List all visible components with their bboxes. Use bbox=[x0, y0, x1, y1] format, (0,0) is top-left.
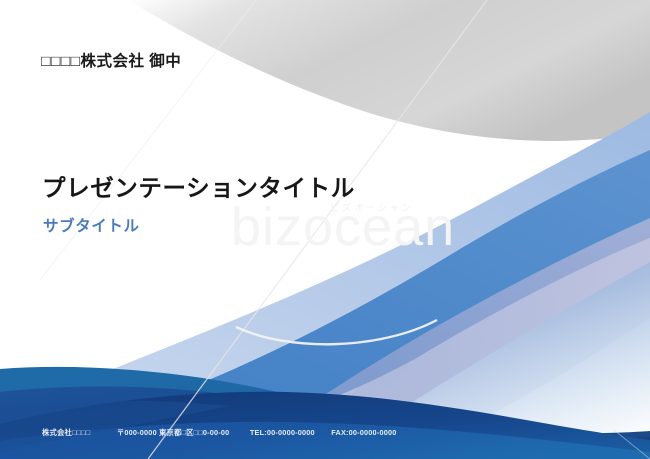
presentation-title: プレゼンテーションタイトル bbox=[42, 169, 355, 203]
slide-text-layer: bizocean ビズオーシャン □□□□株式会社 御中 プレゼンテーションタイ… bbox=[0, 0, 650, 459]
footer-company-name: 株式会社□□□□ bbox=[42, 428, 90, 438]
recipient-company-line: □□□□株式会社 御中 bbox=[41, 49, 181, 71]
bizocean-watermark-wordmark: bizocean bbox=[231, 196, 455, 258]
footer-postal-address: 〒000-0000 東京都□区□□0-00-00 bbox=[117, 428, 230, 438]
presentation-title-slide: bizocean ビズオーシャン □□□□株式会社 御中 プレゼンテーションタイ… bbox=[0, 0, 650, 459]
footer-telephone: TEL:00-0000-0000 bbox=[250, 428, 315, 437]
footer-contact-info: 株式会社□□□□ 〒000-0000 東京都□区□□0-00-00 TEL:00… bbox=[42, 428, 396, 438]
presentation-subtitle: サブタイトル bbox=[43, 214, 140, 236]
footer-fax: FAX:00-0000-0000 bbox=[331, 428, 396, 437]
